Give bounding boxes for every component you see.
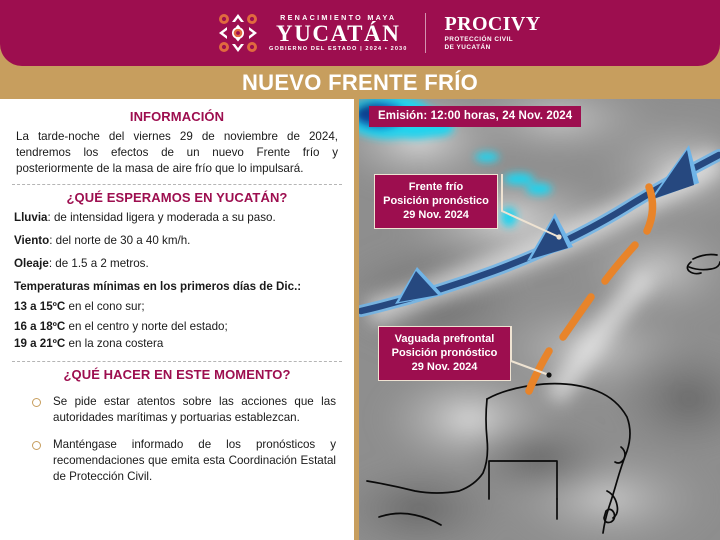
information-paragraph: La tarde-noche del viernes 29 de noviemb… <box>10 129 344 177</box>
separator-1 <box>12 184 342 185</box>
temperature-heading: Temperaturas mínimas en los primeros día… <box>14 279 344 294</box>
temperature-row-centro-norte: 16 a 18ºC en el centro y norte del estad… <box>14 319 344 334</box>
body-area: INFORMACIÓN La tarde-noche del viernes 2… <box>0 99 720 540</box>
procivy-subtitle-line2: DE YUCATÁN <box>444 44 540 52</box>
callout-frente-line1: Frente frío <box>383 180 489 194</box>
government-logo: RENACIMIENTO MAYA YUCATÁN GOBIERNO DEL E… <box>216 10 541 56</box>
recommendation-item: Se pide estar atentos sobre las acciones… <box>10 394 344 425</box>
page-title: NUEVO FRENTE FRÍO <box>242 70 478 96</box>
title-band: NUEVO FRENTE FRÍO <box>0 66 720 99</box>
callout-frente-frio: Frente frío Posición pronóstico 29 Nov. … <box>374 174 498 229</box>
separator-2 <box>12 361 342 362</box>
expect-item-viento: Viento: del norte de 30 a 40 km/h. <box>14 233 344 248</box>
recommendation-text: Se pide estar atentos sobre las acciones… <box>53 394 336 425</box>
callout-vaguada-prefrontal: Vaguada prefrontal Posición pronóstico 2… <box>378 326 511 381</box>
expect-value-oleaje: : de 1.5 a 2 metros. <box>49 257 149 270</box>
bullet-ring-icon <box>32 441 41 450</box>
procivy-subtitle-line1: PROTECCIÓN CIVIL <box>444 36 540 44</box>
temp-range-costera: 19 a 21ºC <box>14 337 65 350</box>
infographic-root: RENACIMIENTO MAYA YUCATÁN GOBIERNO DEL E… <box>0 0 720 540</box>
logo-divider <box>425 13 426 53</box>
yucatan-wordmark: RENACIMIENTO MAYA YUCATÁN GOBIERNO DEL E… <box>269 11 407 55</box>
temperature-row-cono-sur: 13 a 15ºC en el cono sur; <box>14 299 344 314</box>
temp-zone-centro-norte: en el centro y norte del estado; <box>65 320 227 333</box>
expect-label-oleaje: Oleaje <box>14 257 49 270</box>
expect-value-lluvia: : de intensidad ligera y moderada a su p… <box>48 211 276 224</box>
temperature-row-costera: 19 a 21ºC en la zona costera <box>14 336 344 351</box>
temp-range-centro-norte: 16 a 18ºC <box>14 320 65 333</box>
emission-badge: Emisión: 12:00 horas, 24 Nov. 2024 <box>369 106 581 127</box>
renacimiento-maya-text: RENACIMIENTO MAYA <box>269 14 407 21</box>
temp-zone-costera: en la zona costera <box>65 337 163 350</box>
yucatan-title-text: YUCATÁN <box>269 22 407 45</box>
expect-label-viento: Viento <box>14 234 49 247</box>
expectations-heading: ¿QUÉ ESPERAMOS EN YUCATÁN? <box>10 190 344 205</box>
temperature-heading-text: Temperaturas mínimas en los primeros día… <box>14 280 301 293</box>
temp-zone-cono-sur: en el cono sur; <box>65 300 144 313</box>
callout-vaguada-line1: Vaguada prefrontal <box>387 332 502 346</box>
bullet-ring-icon <box>32 398 41 407</box>
weather-map-graphic <box>359 99 720 540</box>
callout-vaguada-line2: Posición pronóstico <box>387 346 502 360</box>
weather-map-panel: Emisión: 12:00 horas, 24 Nov. 2024 Frent… <box>359 99 720 540</box>
actions-heading: ¿QUÉ HACER EN ESTE MOMENTO? <box>10 367 344 382</box>
recommendation-text: Manténgase informado de los pronósticos … <box>53 437 336 484</box>
procivy-wordmark: PROCIVY PROTECCIÓN CIVIL DE YUCATÁN <box>444 12 540 54</box>
maya-emblem-icon <box>216 11 260 55</box>
expect-value-viento: : del norte de 30 a 40 km/h. <box>49 234 190 247</box>
gobierno-del-estado-text: GOBIERNO DEL ESTADO | 2024 • 2030 <box>269 47 407 53</box>
header-bar: RENACIMIENTO MAYA YUCATÁN GOBIERNO DEL E… <box>0 0 720 66</box>
procivy-title-text: PROCIVY <box>444 14 540 34</box>
expect-item-oleaje: Oleaje: de 1.5 a 2 metros. <box>14 256 344 271</box>
recommendation-item: Manténgase informado de los pronósticos … <box>10 437 344 484</box>
expect-label-lluvia: Lluvia <box>14 211 48 224</box>
callout-vaguada-line3: 29 Nov. 2024 <box>387 360 502 374</box>
temp-range-cono-sur: 13 a 15ºC <box>14 300 65 313</box>
information-heading: INFORMACIÓN <box>10 109 344 124</box>
expect-item-lluvia: Lluvia: de intensidad ligera y moderada … <box>14 210 344 225</box>
callout-frente-line3: 29 Nov. 2024 <box>383 208 489 222</box>
information-panel: INFORMACIÓN La tarde-noche del viernes 2… <box>0 99 354 540</box>
callout-frente-line2: Posición pronóstico <box>383 194 489 208</box>
